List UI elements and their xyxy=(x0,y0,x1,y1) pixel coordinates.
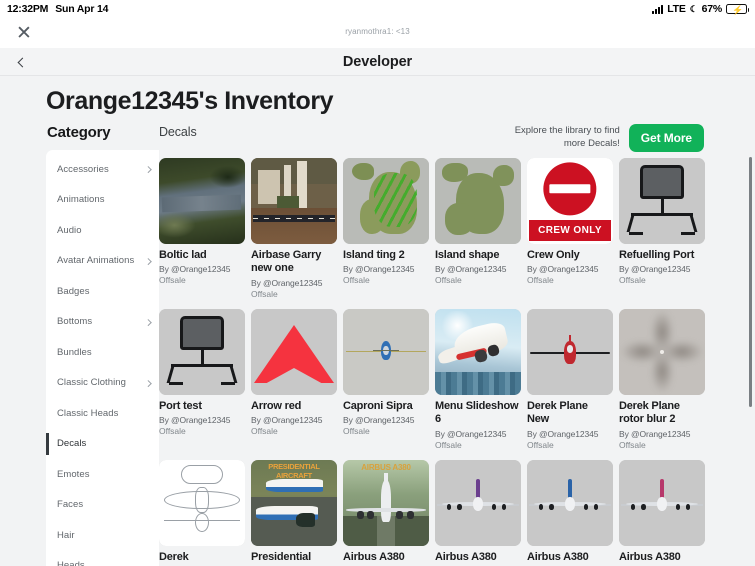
art-shape xyxy=(567,345,574,353)
page-title: Orange12345's Inventory xyxy=(46,87,755,116)
decal-card[interactable]: Island ting 2By @Orange12345Offsale xyxy=(343,158,434,299)
decal-name: Menu Slideshow 6 xyxy=(435,400,519,427)
inventory-main: Decals Explore the library to find more … xyxy=(159,124,755,566)
decal-sale-status: Offsale xyxy=(619,275,710,285)
decal-sale-status: Offsale xyxy=(527,275,618,285)
decal-name: Boltic lad xyxy=(159,249,243,262)
sidebar-item-label: Bottoms xyxy=(57,316,92,327)
decal-artwork xyxy=(159,460,245,546)
art-shape xyxy=(660,479,663,500)
decal-artwork: AIRBUS A380 xyxy=(343,460,429,546)
chevron-right-icon xyxy=(145,258,151,264)
sidebar-item-audio[interactable]: Audio xyxy=(46,215,159,246)
decal-sale-status: Offsale xyxy=(343,426,434,436)
art-shape xyxy=(181,465,222,484)
decal-creator: By @Orange12345 xyxy=(619,264,710,274)
art-shape xyxy=(539,504,543,509)
art-shape xyxy=(357,511,364,519)
decal-name: Airbase Garry new one xyxy=(251,249,335,276)
decal-sale-status: Offsale xyxy=(527,440,618,450)
thumbnail-island-ting-2[interactable] xyxy=(343,158,429,244)
art-shape xyxy=(435,372,521,394)
decal-name: Derek Plane New xyxy=(527,400,611,427)
thumbnail-menu-slideshow-6[interactable] xyxy=(435,309,521,395)
art-shape xyxy=(195,487,209,513)
art-shape xyxy=(381,480,391,521)
status-bar: 12:32PM Sun Apr 14 LTE ☾ 67% ⚡ xyxy=(0,0,755,18)
thumbnail-crew-only[interactable]: CREW ONLY xyxy=(527,158,613,244)
chevron-right-icon xyxy=(145,380,151,386)
art-shape xyxy=(251,497,337,545)
art-shape xyxy=(396,511,403,519)
decal-artwork xyxy=(527,460,613,546)
sidebar-item-label: Decals xyxy=(57,438,86,449)
art-shape xyxy=(492,504,496,509)
promo-block: Explore the library to find more Decals!… xyxy=(495,124,704,152)
sidebar-item-faces[interactable]: Faces xyxy=(46,490,159,521)
art-shape xyxy=(681,232,695,235)
decal-name: Derek xyxy=(159,551,243,564)
cellular-signal-icon xyxy=(652,5,663,14)
thumbnail-caproni-sipra[interactable] xyxy=(343,309,429,395)
sidebar-item-label: Badges xyxy=(57,286,90,297)
app-screen: 12:32PM Sun Apr 14 LTE ☾ 67% ⚡ ✕ ryanmot… xyxy=(0,0,755,566)
promo-text: Explore the library to find more Decals! xyxy=(495,125,620,151)
decal-artwork xyxy=(435,158,521,244)
thumbnail-port-test[interactable] xyxy=(159,309,245,395)
thumbnail-airbus-a380-poster[interactable]: AIRBUS A380 xyxy=(343,460,429,546)
decal-name: Airbus A380 xyxy=(435,551,519,564)
art-shape xyxy=(229,366,237,383)
art-shape xyxy=(447,504,451,509)
art-shape xyxy=(367,511,374,519)
art-shape xyxy=(254,368,334,390)
decal-name: Arrow red xyxy=(251,400,335,413)
art-shape xyxy=(631,504,635,509)
art-shape xyxy=(641,504,645,509)
art-shape xyxy=(594,504,598,509)
sidebar-item-label: Animations xyxy=(57,194,105,205)
art-shape xyxy=(253,215,336,223)
decal-creator: By @Orange12345 xyxy=(159,415,250,425)
category-sidebar: Category AccessoriesAnimationsAudioAvata… xyxy=(0,124,159,566)
art-shape xyxy=(167,366,175,383)
art-shape xyxy=(502,504,506,509)
decal-card[interactable]: CREW ONLYCrew OnlyBy @Orange12345Offsale xyxy=(527,158,618,299)
decal-creator: By @Orange12345 xyxy=(527,429,618,439)
decal-card[interactable]: Airbase Garry new oneBy @Orange12345Offs… xyxy=(251,158,342,299)
decal-card[interactable]: Menu Slideshow 6By @Orange12345Offsale xyxy=(435,309,526,450)
art-shape xyxy=(374,173,417,226)
decal-name: Presidential xyxy=(251,551,335,564)
status-time: 12:32PM xyxy=(7,3,48,15)
decal-card[interactable]: Airbus A380 xyxy=(435,460,526,564)
status-date: Sun Apr 14 xyxy=(55,3,108,15)
decal-sale-status: Offsale xyxy=(159,275,250,285)
sidebar-item-bottoms[interactable]: Bottoms xyxy=(46,307,159,338)
art-shape xyxy=(657,497,667,511)
thumbnail-island-shape[interactable] xyxy=(435,158,521,244)
section-title: Decals xyxy=(159,124,197,139)
art-shape xyxy=(266,479,323,493)
art-shape xyxy=(549,184,590,193)
art-shape xyxy=(457,504,461,509)
decal-creator: By @Orange12345 xyxy=(251,415,342,425)
art-shape xyxy=(584,504,588,509)
moon-icon: ☾ xyxy=(690,4,698,15)
decal-card[interactable]: Boltic ladBy @Orange12345Offsale xyxy=(159,158,250,299)
decal-name: Derek Plane rotor blur 2 xyxy=(619,400,703,427)
decal-artwork: CREW ONLY xyxy=(527,158,613,244)
decal-card[interactable]: Airbus A380 xyxy=(619,460,710,564)
decal-name: Caproni Sipra xyxy=(343,400,427,413)
decal-artwork xyxy=(343,309,429,395)
page-scrollbar[interactable] xyxy=(749,157,752,566)
category-list: AccessoriesAnimationsAudioAvatar Animati… xyxy=(46,150,159,566)
thumbnail-presidential[interactable]: PRESIDENTIAL AIRCRAFT xyxy=(251,460,337,546)
thumbnail-derek-plane-rotor-blur-2[interactable] xyxy=(619,309,705,395)
sidebar-item-label: Classic Clothing xyxy=(57,377,126,388)
decal-artwork xyxy=(435,460,521,546)
modal-subtitle: ryanmothra1: <13 xyxy=(0,27,755,36)
art-shape xyxy=(373,350,399,351)
artwork-label-band: CREW ONLY xyxy=(529,220,612,241)
sidebar-item-classic-clothing[interactable]: Classic Clothing xyxy=(46,368,159,399)
decal-artwork: PRESIDENTIAL AIRCRAFT xyxy=(251,460,337,546)
decal-sale-status: Offsale xyxy=(435,275,526,285)
sidebar-item-badges[interactable]: Badges xyxy=(46,276,159,307)
sidebar-item-label: Classic Heads xyxy=(57,408,118,419)
decal-card[interactable]: Airbus A380 xyxy=(527,460,618,564)
chevron-right-icon xyxy=(145,166,151,172)
decal-creator: By @Orange12345 xyxy=(251,278,342,288)
thumbnail-derek-plane-new[interactable] xyxy=(527,309,613,395)
decals-grid: Boltic ladBy @Orange12345OffsaleAirbase … xyxy=(159,158,745,566)
decal-creator: By @Orange12345 xyxy=(159,264,250,274)
decal-card[interactable]: Derek xyxy=(159,460,250,564)
art-shape xyxy=(629,232,643,235)
art-shape xyxy=(251,208,337,244)
thumbnail-airbus-a380-purple[interactable] xyxy=(435,460,521,546)
decal-card[interactable]: Derek Plane NewBy @Orange12345Offsale xyxy=(527,309,618,450)
art-shape xyxy=(493,165,514,186)
sidebar-item-label: Hair xyxy=(57,530,75,541)
art-shape xyxy=(631,213,693,216)
art-shape xyxy=(352,163,374,180)
nav-title: Developer xyxy=(0,54,755,70)
decal-name: Island shape xyxy=(435,249,519,262)
status-network: LTE xyxy=(667,3,685,15)
art-shape xyxy=(445,203,474,236)
decal-card[interactable]: AIRBUS A380Airbus A380 xyxy=(343,460,434,564)
section-header: Decals Explore the library to find more … xyxy=(159,124,745,160)
sidebar-item-accessories[interactable]: Accessories xyxy=(46,154,159,185)
decal-artwork xyxy=(619,309,705,395)
decal-artwork xyxy=(251,158,337,244)
artwork-label: PRESIDENTIAL AIRCRAFT xyxy=(253,462,336,480)
art-shape xyxy=(565,497,575,511)
decal-card[interactable]: Refuelling PortBy @Orange12345Offsale xyxy=(619,158,710,299)
decal-sale-status: Offsale xyxy=(251,289,342,299)
decal-sale-status: Offsale xyxy=(619,440,710,450)
art-shape xyxy=(171,364,233,367)
decal-card[interactable]: PRESIDENTIAL AIRCRAFTPresidential xyxy=(251,460,342,564)
art-shape xyxy=(676,504,680,509)
thumbnail-boltic-lad[interactable] xyxy=(159,158,245,244)
artwork-label: CREW ONLY xyxy=(538,225,602,236)
decal-card[interactable]: Arrow redBy @Orange12345Offsale xyxy=(251,309,342,450)
scrollbar-thumb[interactable] xyxy=(749,157,752,407)
decal-sale-status: Offsale xyxy=(343,275,434,285)
art-shape xyxy=(549,504,553,509)
chevron-right-icon xyxy=(145,319,151,325)
art-shape xyxy=(473,497,483,511)
get-more-button[interactable]: Get More xyxy=(629,124,704,152)
decal-name: Island ting 2 xyxy=(343,249,427,262)
sidebar-item-bundles[interactable]: Bundles xyxy=(46,337,159,368)
status-bar-left: 12:32PM Sun Apr 14 xyxy=(7,3,108,15)
artwork-label: AIRBUS A380 xyxy=(343,463,429,472)
art-shape xyxy=(686,504,690,509)
page-body: Orange12345's Inventory Category Accesso… xyxy=(0,76,755,566)
thumbnail-airbus-a380-blue[interactable] xyxy=(527,460,613,546)
sidebar-item-label: Emotes xyxy=(57,469,90,480)
decal-artwork xyxy=(619,158,705,244)
decal-artwork xyxy=(619,460,705,546)
decal-card[interactable]: Caproni SipraBy @Orange12345Offsale xyxy=(343,309,434,450)
decal-name: Crew Only xyxy=(527,249,611,262)
sidebar-item-avatar-animations[interactable]: Avatar Animations xyxy=(46,246,159,277)
sidebar-item-label: Faces xyxy=(57,499,83,510)
art-shape xyxy=(689,215,697,232)
sidebar-item-label: Heads xyxy=(57,560,85,566)
decal-creator: By @Orange12345 xyxy=(343,415,434,425)
decal-creator: By @Orange12345 xyxy=(435,429,526,439)
status-battery-percent: 67% xyxy=(702,3,722,15)
sidebar-item-heads[interactable]: Heads xyxy=(46,551,159,566)
decal-artwork xyxy=(251,309,337,395)
decal-artwork xyxy=(159,158,245,244)
sidebar-item-label: Bundles xyxy=(57,347,92,358)
decal-name: Airbus A380 xyxy=(343,551,427,564)
art-shape xyxy=(407,511,414,519)
sidebar-item-classic-heads[interactable]: Classic Heads xyxy=(46,398,159,429)
decal-creator: By @Orange12345 xyxy=(619,429,710,439)
status-bar-right: LTE ☾ 67% ⚡ xyxy=(652,3,747,15)
art-shape xyxy=(568,479,571,500)
decal-artwork xyxy=(435,309,521,395)
decal-card[interactable]: Port testBy @Orange12345Offsale xyxy=(159,309,250,450)
art-shape xyxy=(296,513,315,527)
thumbnail-airbase-garry[interactable] xyxy=(251,158,337,244)
chevron-left-icon[interactable] xyxy=(12,53,30,71)
art-shape xyxy=(221,382,235,385)
decal-name: Airbus A380 xyxy=(527,551,611,564)
sidebar-item-animations[interactable]: Animations xyxy=(46,185,159,216)
decal-artwork xyxy=(343,158,429,244)
art-shape xyxy=(660,350,664,354)
decal-creator: By @Orange12345 xyxy=(343,264,434,274)
category-heading: Category xyxy=(47,124,159,141)
modal-top-bar: ✕ ryanmothra1: <13 xyxy=(0,18,755,48)
thumbnail-derek[interactable] xyxy=(159,460,245,546)
navigation-bar: Developer xyxy=(0,48,755,76)
thumbnail-arrow-red[interactable] xyxy=(251,309,337,395)
decal-artwork xyxy=(527,309,613,395)
art-shape xyxy=(180,316,225,350)
decal-card[interactable]: Island shapeBy @Orange12345Offsale xyxy=(435,158,526,299)
art-shape xyxy=(640,165,685,199)
decal-name: Airbus A380 xyxy=(619,551,703,564)
art-shape xyxy=(476,479,479,500)
decal-sale-status: Offsale xyxy=(251,426,342,436)
thumbnail-refuelling-port[interactable] xyxy=(619,158,705,244)
decal-sale-status: Offsale xyxy=(435,440,526,450)
sidebar-item-label: Accessories xyxy=(57,164,109,175)
sidebar-item-emotes[interactable]: Emotes xyxy=(46,459,159,490)
decal-sale-status: Offsale xyxy=(159,426,250,436)
battery-charging-icon: ⚡ xyxy=(726,4,747,14)
sidebar-item-hair[interactable]: Hair xyxy=(46,520,159,551)
sidebar-item-label: Avatar Animations xyxy=(57,255,134,266)
decal-creator: By @Orange12345 xyxy=(527,264,618,274)
art-shape xyxy=(169,382,183,385)
decal-name: Refuelling Port xyxy=(619,249,703,262)
sidebar-item-decals[interactable]: Decals xyxy=(46,429,159,460)
sidebar-item-label: Audio xyxy=(57,225,82,236)
art-shape xyxy=(627,215,635,232)
decal-name: Port test xyxy=(159,400,243,413)
art-shape xyxy=(473,349,487,363)
art-shape xyxy=(195,513,209,532)
decal-creator: By @Orange12345 xyxy=(435,264,526,274)
thumbnail-airbus-a380-pink[interactable] xyxy=(619,460,705,546)
decal-card[interactable]: Derek Plane rotor blur 2By @Orange12345O… xyxy=(619,309,710,450)
decal-artwork xyxy=(159,309,245,395)
